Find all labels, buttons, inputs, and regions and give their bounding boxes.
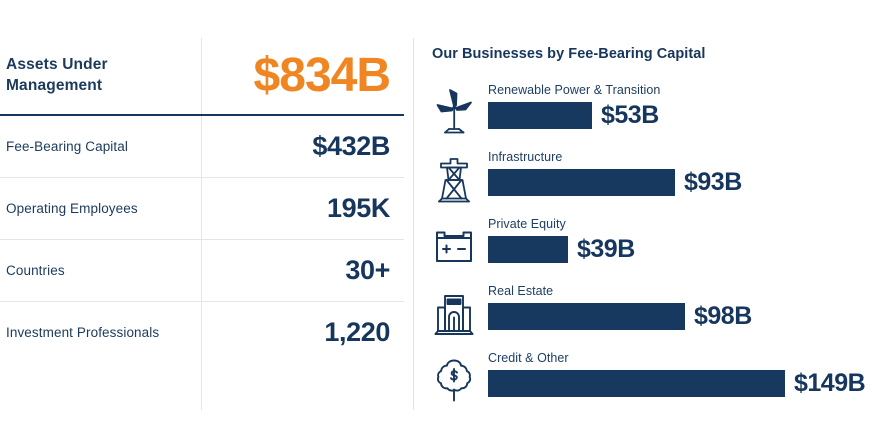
panel-divider	[413, 38, 414, 410]
bar-fill-private-equity	[488, 236, 568, 263]
stat-label-operating-employees: Operating Employees	[0, 200, 201, 217]
bar-track-private-equity: $39B	[488, 236, 635, 263]
battery-icon	[432, 221, 476, 271]
stat-value-fee-bearing-capital: $432B	[201, 131, 404, 162]
bar-value-infrastructure: $93B	[684, 168, 742, 197]
bar-label-renewable-power-transition: Renewable Power & Transition	[488, 83, 660, 97]
bar-value-private-equity: $39B	[577, 235, 635, 264]
bar-row-real-estate: Real Estate $98B	[432, 283, 887, 350]
stat-row-operating-employees: Operating Employees 195K	[0, 178, 404, 239]
stat-value-investment-professionals: 1,220	[201, 317, 404, 348]
bar-row-renewable-power-transition: Renewable Power & Transition $53B	[432, 82, 887, 149]
office-building-icon	[432, 288, 476, 338]
bar-track-renewable-power-transition: $53B	[488, 102, 659, 129]
stat-value-operating-employees: 195K	[201, 193, 404, 224]
stat-value-countries: 30+	[201, 255, 404, 286]
bar-fill-real-estate	[488, 303, 685, 330]
bar-row-private-equity: Private Equity $39B	[432, 216, 887, 283]
bar-track-credit-other: $149B	[488, 370, 865, 397]
businesses-chart-panel: Our Businesses by Fee-Bearing Capital	[432, 46, 887, 416]
transmission-tower-icon	[432, 154, 476, 204]
stat-row-assets-under-management: Assets Under Management $834B	[0, 38, 404, 114]
bar-label-real-estate: Real Estate	[488, 284, 553, 298]
stat-label-countries: Countries	[0, 262, 201, 279]
money-tree-icon	[432, 355, 476, 405]
bar-value-real-estate: $98B	[694, 302, 752, 331]
stat-row-countries: Countries 30+	[0, 240, 404, 301]
key-statistics-panel: Assets Under Management $834B Fee-Bearin…	[0, 38, 404, 410]
bar-fill-credit-other	[488, 370, 785, 397]
infographic-root: Assets Under Management $834B Fee-Bearin…	[0, 0, 895, 444]
bar-label-infrastructure: Infrastructure	[488, 150, 562, 164]
stat-row-fee-bearing-capital: Fee-Bearing Capital $432B	[0, 116, 404, 177]
bar-value-renewable-power-transition: $53B	[601, 101, 659, 130]
stat-label-investment-professionals: Investment Professionals	[0, 324, 201, 341]
bar-track-real-estate: $98B	[488, 303, 752, 330]
bar-label-credit-other: Credit & Other	[488, 351, 569, 365]
bar-value-credit-other: $149B	[794, 369, 865, 398]
wind-turbine-icon	[432, 87, 476, 137]
stat-label-assets-under-management: Assets Under Management	[0, 55, 201, 96]
stat-value-assets-under-management: $834B	[201, 52, 404, 100]
bar-row-credit-other: Credit & Other $149B	[432, 350, 887, 417]
stat-label-fee-bearing-capital: Fee-Bearing Capital	[0, 138, 201, 155]
stat-row-investment-professionals: Investment Professionals 1,220	[0, 302, 404, 363]
chart-title: Our Businesses by Fee-Bearing Capital	[432, 46, 705, 62]
bar-fill-renewable-power-transition	[488, 102, 592, 129]
bar-label-private-equity: Private Equity	[488, 217, 566, 231]
bar-chart-rows: Renewable Power & Transition $53B	[432, 82, 887, 417]
bar-row-infrastructure: Infrastructure $93B	[432, 149, 887, 216]
bar-track-infrastructure: $93B	[488, 169, 742, 196]
bar-fill-infrastructure	[488, 169, 675, 196]
